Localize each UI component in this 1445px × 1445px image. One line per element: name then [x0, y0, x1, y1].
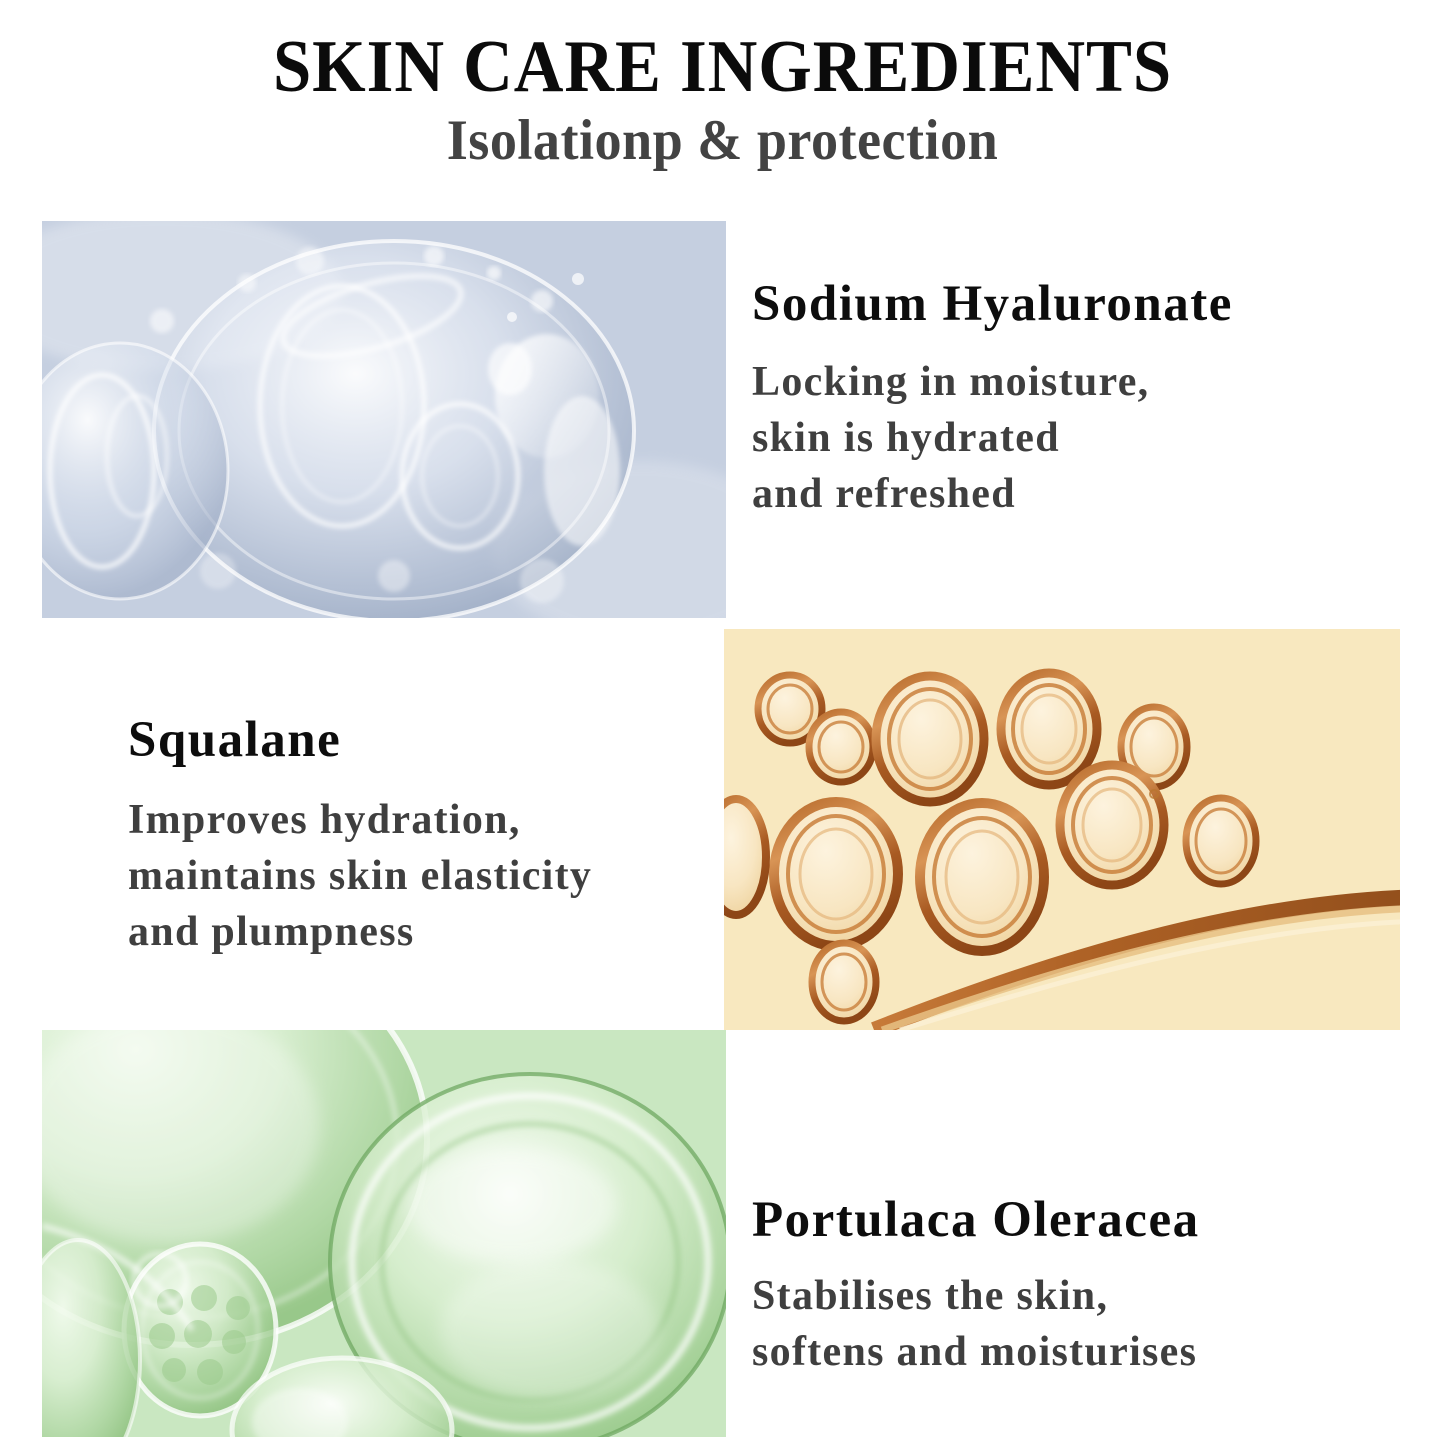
ingredient-block-portulaca-oleracea: Portulaca Oleracea Stabilises the skin, … [752, 1192, 1200, 1380]
oil-bubble [812, 943, 876, 1021]
oil-bubble [774, 802, 898, 946]
description-line: maintains skin elasticity [128, 848, 592, 904]
description-line: Improves hydration, [128, 792, 592, 848]
ingredient-description-portulaca-oleracea: Stabilises the skin, softens and moistur… [752, 1268, 1200, 1380]
description-line: and refreshed [752, 466, 1233, 522]
ingredient-description-squalane: Improves hydration, maintains skin elast… [128, 792, 592, 960]
oil-bubble [920, 803, 1044, 951]
description-line: softens and moisturises [752, 1324, 1200, 1380]
ingredient-name-squalane: Squalane [128, 712, 592, 768]
oil-bubble [1186, 798, 1256, 884]
green-gel-bubbles-photo [42, 1030, 726, 1437]
blue-gel-bubbles-photo [42, 221, 726, 618]
ingredient-block-sodium-hyaluronate: Sodium Hyaluronate Locking in moisture, … [752, 276, 1233, 522]
page-subtitle: Isolationp & protection [36, 110, 1409, 172]
ingredient-name-portulaca-oleracea: Portulaca Oleracea [752, 1192, 1200, 1248]
oil-bubble [724, 799, 766, 915]
description-line: skin is hydrated [752, 410, 1233, 466]
page-title: SKIN CARE INGREDIENTS [51, 28, 1395, 106]
amber-oil-bubbles-artwork [724, 629, 1400, 1030]
blue-gel-bubbles-artwork [42, 221, 726, 618]
green-gel-bubbles-artwork [42, 1030, 726, 1437]
amber-oil-bubbles-photo [724, 629, 1400, 1030]
ingredient-block-squalane: Squalane Improves hydration, maintains s… [128, 712, 592, 960]
oil-bubble [876, 676, 984, 802]
ingredient-name-sodium-hyaluronate: Sodium Hyaluronate [752, 276, 1233, 332]
ingredient-description-sodium-hyaluronate: Locking in moisture, skin is hydrated an… [752, 354, 1233, 522]
oil-bubble [1060, 765, 1164, 885]
description-line: and plumpness [128, 904, 592, 960]
infographic-page: SKIN CARE INGREDIENTS Isolationp & prote… [0, 0, 1445, 1445]
oil-bubble [809, 712, 873, 782]
oil-bubble [1001, 673, 1097, 785]
description-line: Locking in moisture, [752, 354, 1233, 410]
description-line: Stabilises the skin, [752, 1268, 1200, 1324]
